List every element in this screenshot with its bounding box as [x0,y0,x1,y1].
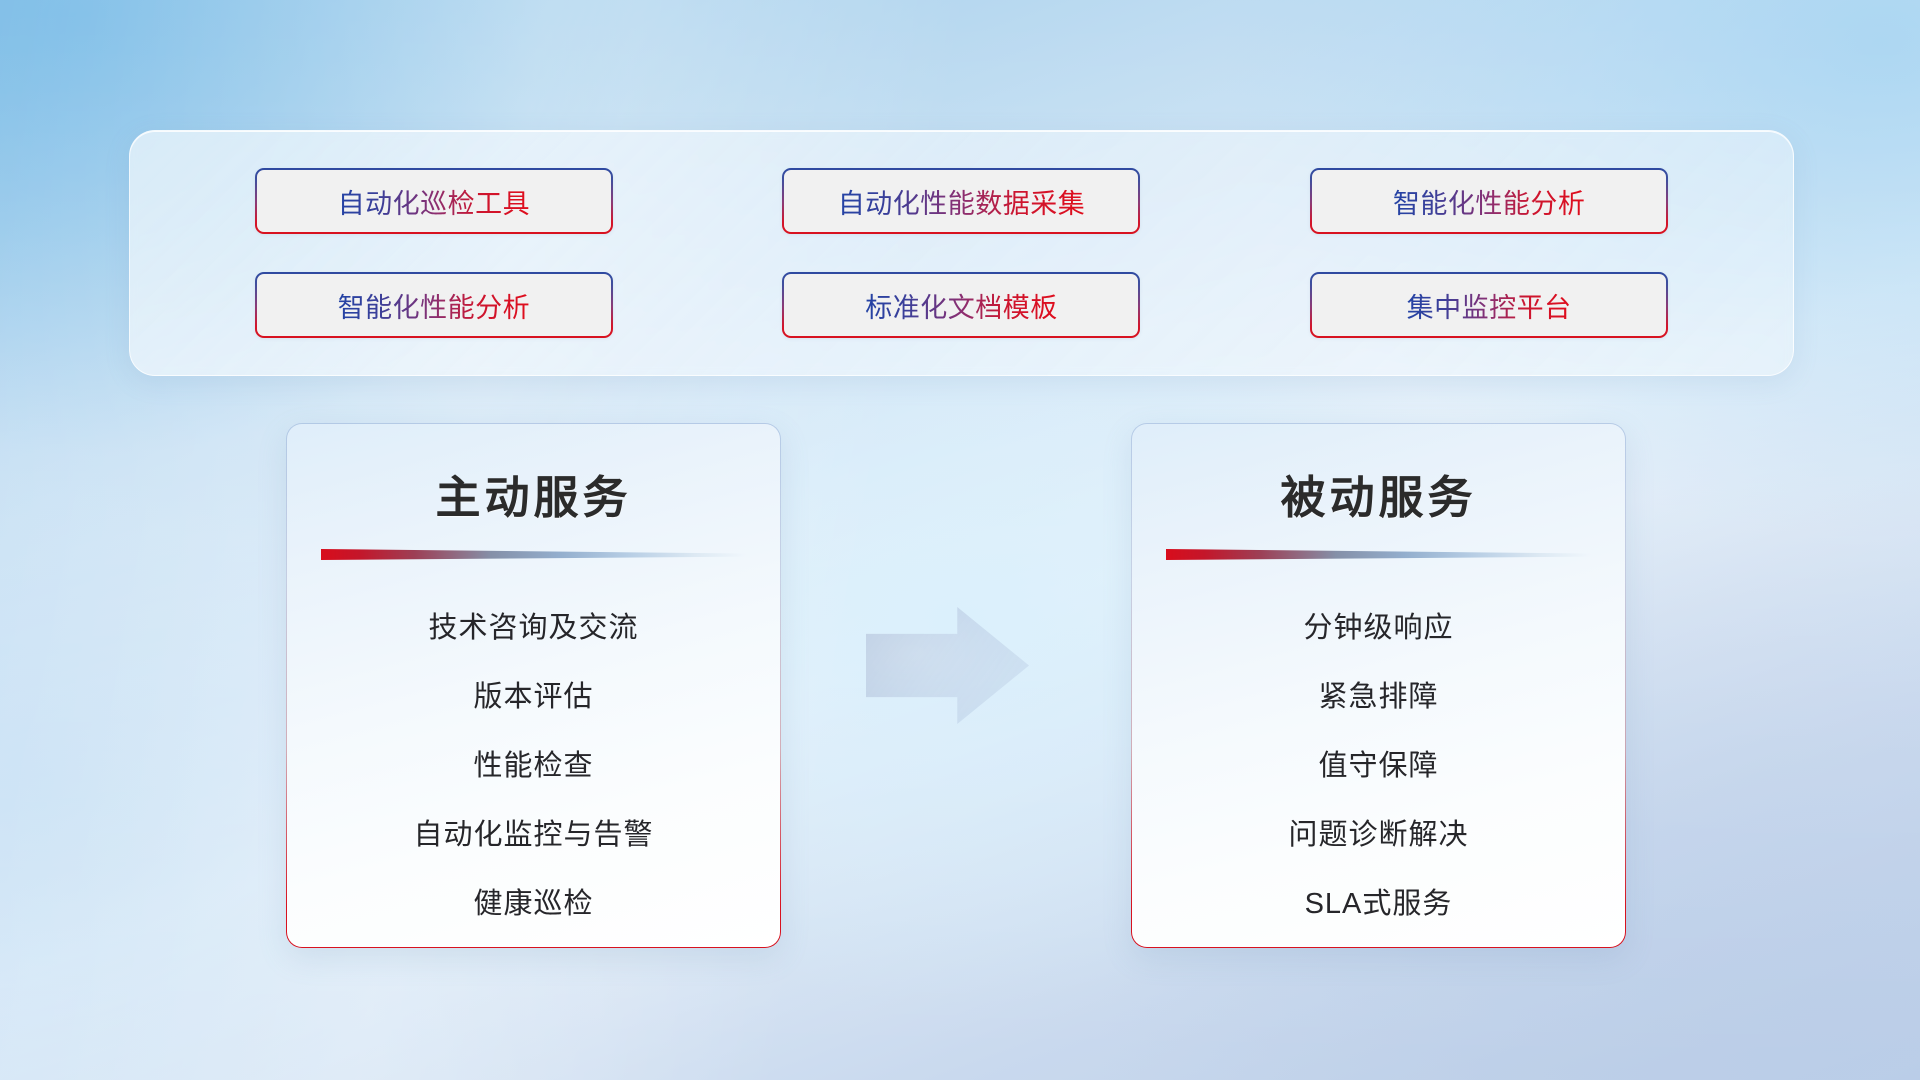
slide-canvas: 自动化巡检工具 自动化性能数据采集 智能化性能分析 智能化性能分析 标准化文档模… [0,0,1920,1080]
capability-pill[interactable]: 标准化文档模板 [782,272,1140,338]
capability-pill-label: 自动化性能数据采集 [838,182,1086,221]
capability-pill[interactable]: 智能化性能分析 [1310,168,1668,234]
card-title: 主动服务 [435,461,631,526]
card-divider [321,548,746,560]
capability-pill-label: 标准化文档模板 [865,286,1058,325]
capability-pill-label: 智能化性能分析 [338,286,531,325]
capability-pill-label: 智能化性能分析 [1393,182,1586,221]
capability-panel: 自动化巡检工具 自动化性能数据采集 智能化性能分析 智能化性能分析 标准化文档模… [129,130,1794,376]
gradient-rule-icon [321,548,746,560]
list-item: 自动化监控与告警 [413,801,653,870]
card-divider [1166,548,1591,560]
capability-pill[interactable]: 智能化性能分析 [255,272,613,338]
list-item: 版本评估 [473,663,593,732]
card-item-list: 技术咨询及交流 版本评估 性能检查 自动化监控与告警 健康巡检 [287,594,780,939]
right-arrow-icon [866,607,1029,724]
list-item: 技术咨询及交流 [428,594,638,663]
service-card-reactive: 被动服务 分钟级响应 紧急排障 值守保障 问题诊断解决 SLA式服务 [1131,423,1626,948]
service-card-proactive: 主动服务 技术咨询及交流 版本评估 性能检查 自动化监控与告警 健康巡检 [286,423,781,948]
list-item: 紧急排障 [1318,663,1438,732]
capability-pill[interactable]: 自动化性能数据采集 [782,168,1140,234]
capability-pill-label: 集中监控平台 [1407,286,1572,325]
list-item: 性能检查 [473,732,593,801]
list-item: 值守保障 [1318,732,1438,801]
card-item-list: 分钟级响应 紧急排障 值守保障 问题诊断解决 SLA式服务 [1132,594,1625,939]
capability-pill[interactable]: 自动化巡检工具 [255,168,613,234]
list-item: 分钟级响应 [1303,594,1453,663]
capability-pill-label: 自动化巡检工具 [338,182,531,221]
card-title: 被动服务 [1280,461,1476,526]
list-item: 健康巡检 [473,870,593,939]
capability-pill[interactable]: 集中监控平台 [1310,272,1668,338]
list-item: 问题诊断解决 [1288,801,1468,870]
list-item: SLA式服务 [1305,870,1453,939]
gradient-rule-icon [1166,548,1591,560]
